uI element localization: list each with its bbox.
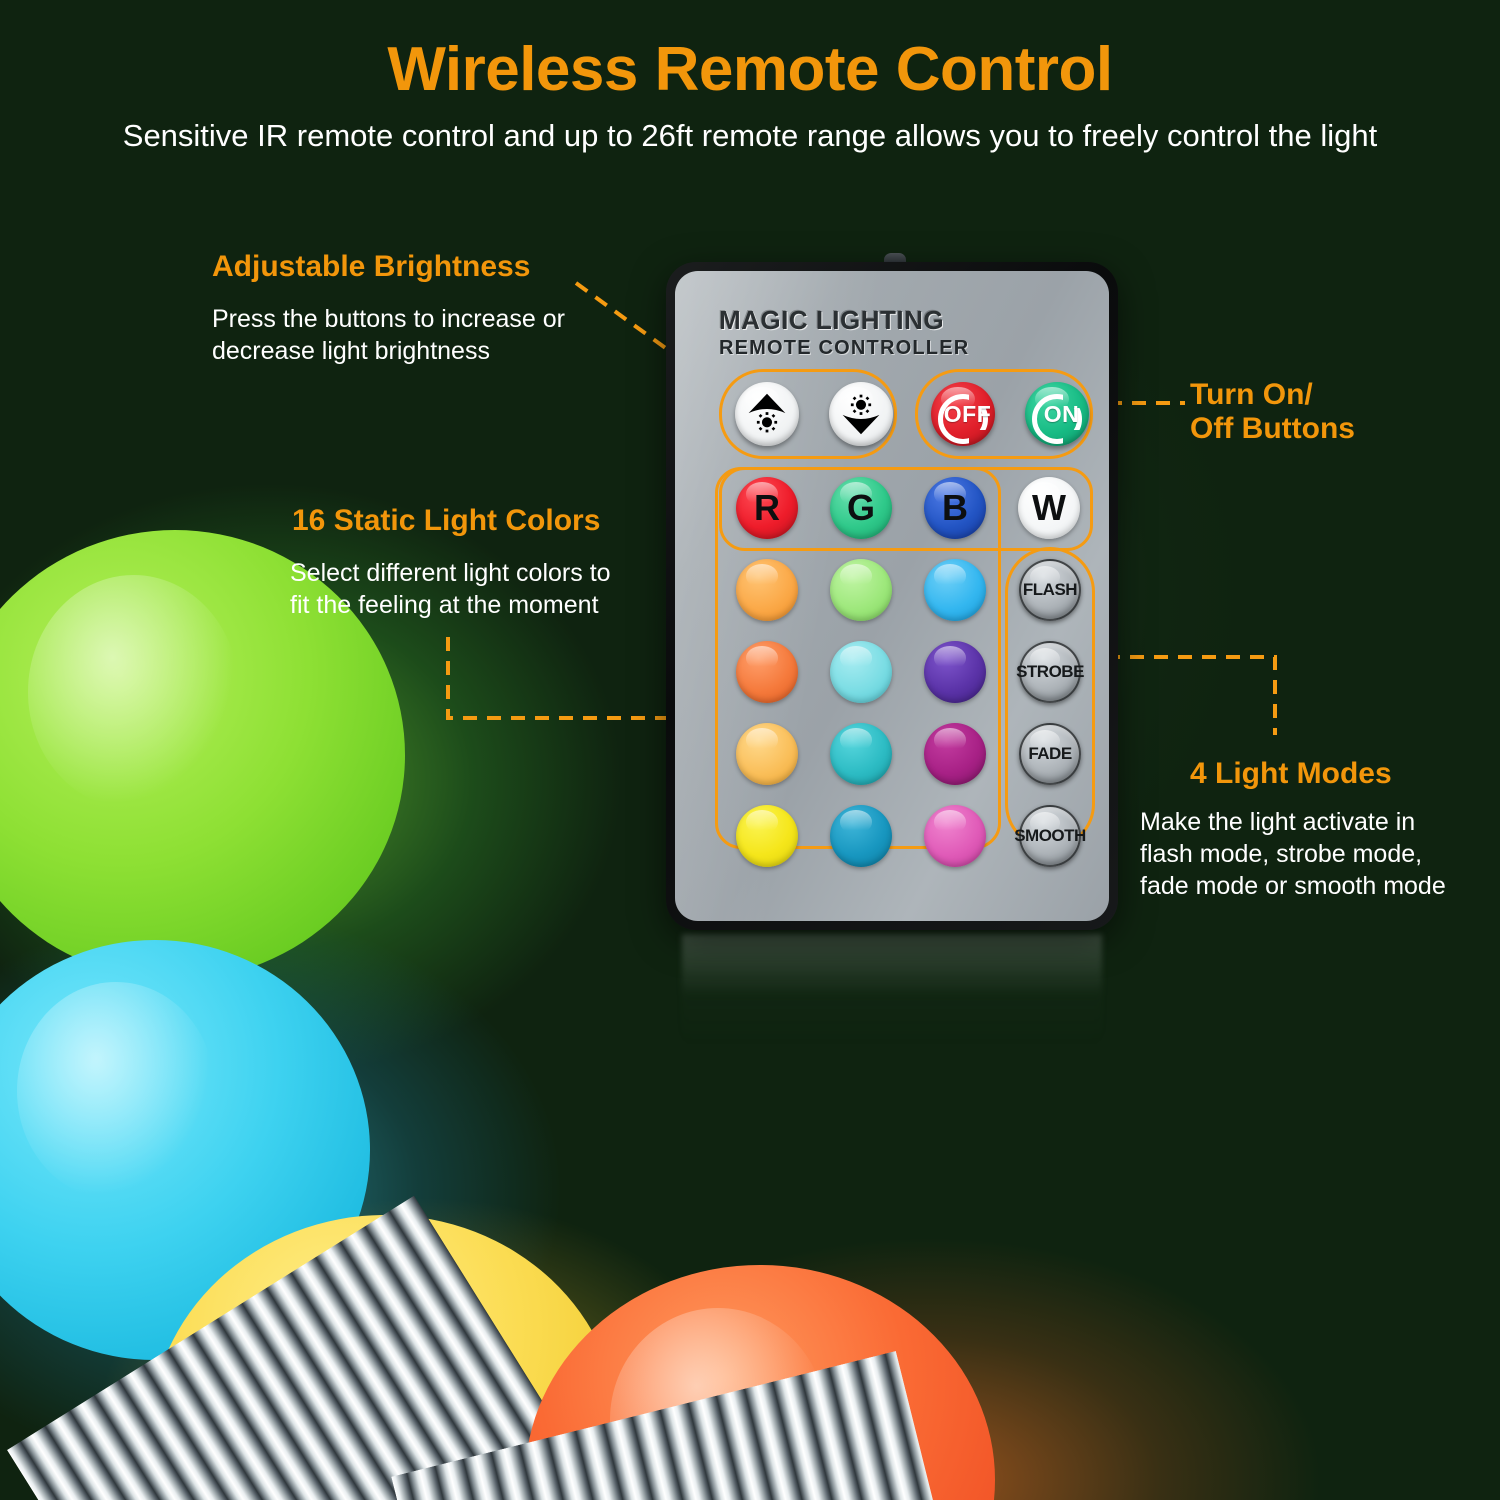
mode-label-flash: FLASH (1023, 580, 1077, 600)
mode-label-fade: FADE (1028, 744, 1071, 764)
brightness-up-button[interactable] (735, 382, 799, 446)
callout-colors-body: Select different light colors to fit the… (290, 557, 611, 621)
rgbw-label-w: W (1032, 487, 1066, 529)
remote-control: MAGIC LIGHTING REMOTE CONTROLLER (666, 262, 1118, 934)
brightness-down-icon (838, 391, 884, 437)
callout-brightness-heading: Adjustable Brightness (212, 250, 530, 284)
mode-button-fade[interactable]: FADE (1019, 723, 1081, 785)
color-swatch-purple[interactable] (924, 641, 986, 703)
power-on-label: ON (1035, 401, 1080, 428)
power-off-label: OFF (935, 401, 992, 428)
bulb-orange (505, 1265, 1065, 1500)
mode-button-flash[interactable]: FLASH (1019, 559, 1081, 621)
color-swatch-orange-deep[interactable] (736, 641, 798, 703)
mode-label-smooth: SMOOTH (1014, 826, 1086, 846)
rgbw-label-b: B (942, 487, 968, 529)
callout-colors-heading: 16 Static Light Colors (292, 504, 600, 538)
callout-power-heading: Turn On/ Off Buttons (1190, 378, 1355, 445)
brand-name: MAGIC LIGHTING (719, 305, 944, 336)
mode-label-strobe: STROBE (1016, 662, 1084, 682)
power-on-button[interactable]: ON (1025, 382, 1089, 446)
mode-button-strobe[interactable]: STROBE (1019, 641, 1081, 703)
page-title: Wireless Remote Control (0, 34, 1500, 105)
color-swatch-magenta-deep[interactable] (924, 723, 986, 785)
callout-modes-heading: 4 Light Modes (1190, 757, 1392, 791)
page-subtitle: Sensitive IR remote control and up to 26… (0, 118, 1500, 154)
rgbw-label-g: G (847, 487, 875, 529)
rgbw-label-r: R (754, 487, 780, 529)
color-swatch-amber[interactable] (736, 723, 798, 785)
mode-button-smooth[interactable]: SMOOTH (1019, 805, 1081, 867)
brand-model: REMOTE CONTROLLER (719, 337, 969, 360)
brightness-up-icon (744, 391, 790, 437)
color-swatch-blue-sky[interactable] (924, 559, 986, 621)
callout-modes-body: Make the light activate in flash mode, s… (1140, 806, 1446, 902)
color-button-red[interactable]: R (736, 477, 798, 539)
remote-reflection (682, 934, 1102, 1054)
infographic-canvas: Wireless Remote Control Sensitive IR rem… (0, 0, 1500, 1500)
color-swatch-yellow[interactable] (736, 805, 798, 867)
color-button-white[interactable]: W (1018, 477, 1080, 539)
remote-body: MAGIC LIGHTING REMOTE CONTROLLER (666, 262, 1118, 930)
color-swatch-cyan-pale[interactable] (830, 641, 892, 703)
callout-brightness-body: Press the buttons to increase or decreas… (212, 303, 565, 367)
color-swatch-blue-teal[interactable] (830, 805, 892, 867)
color-button-blue[interactable]: B (924, 477, 986, 539)
color-swatch-teal[interactable] (830, 723, 892, 785)
color-button-green[interactable]: G (830, 477, 892, 539)
remote-faceplate: MAGIC LIGHTING REMOTE CONTROLLER (675, 271, 1109, 921)
color-swatch-pink[interactable] (924, 805, 986, 867)
brightness-down-button[interactable] (829, 382, 893, 446)
power-off-button[interactable]: OFF (931, 382, 995, 446)
color-swatch-orange-light[interactable] (736, 559, 798, 621)
color-swatch-green-light[interactable] (830, 559, 892, 621)
